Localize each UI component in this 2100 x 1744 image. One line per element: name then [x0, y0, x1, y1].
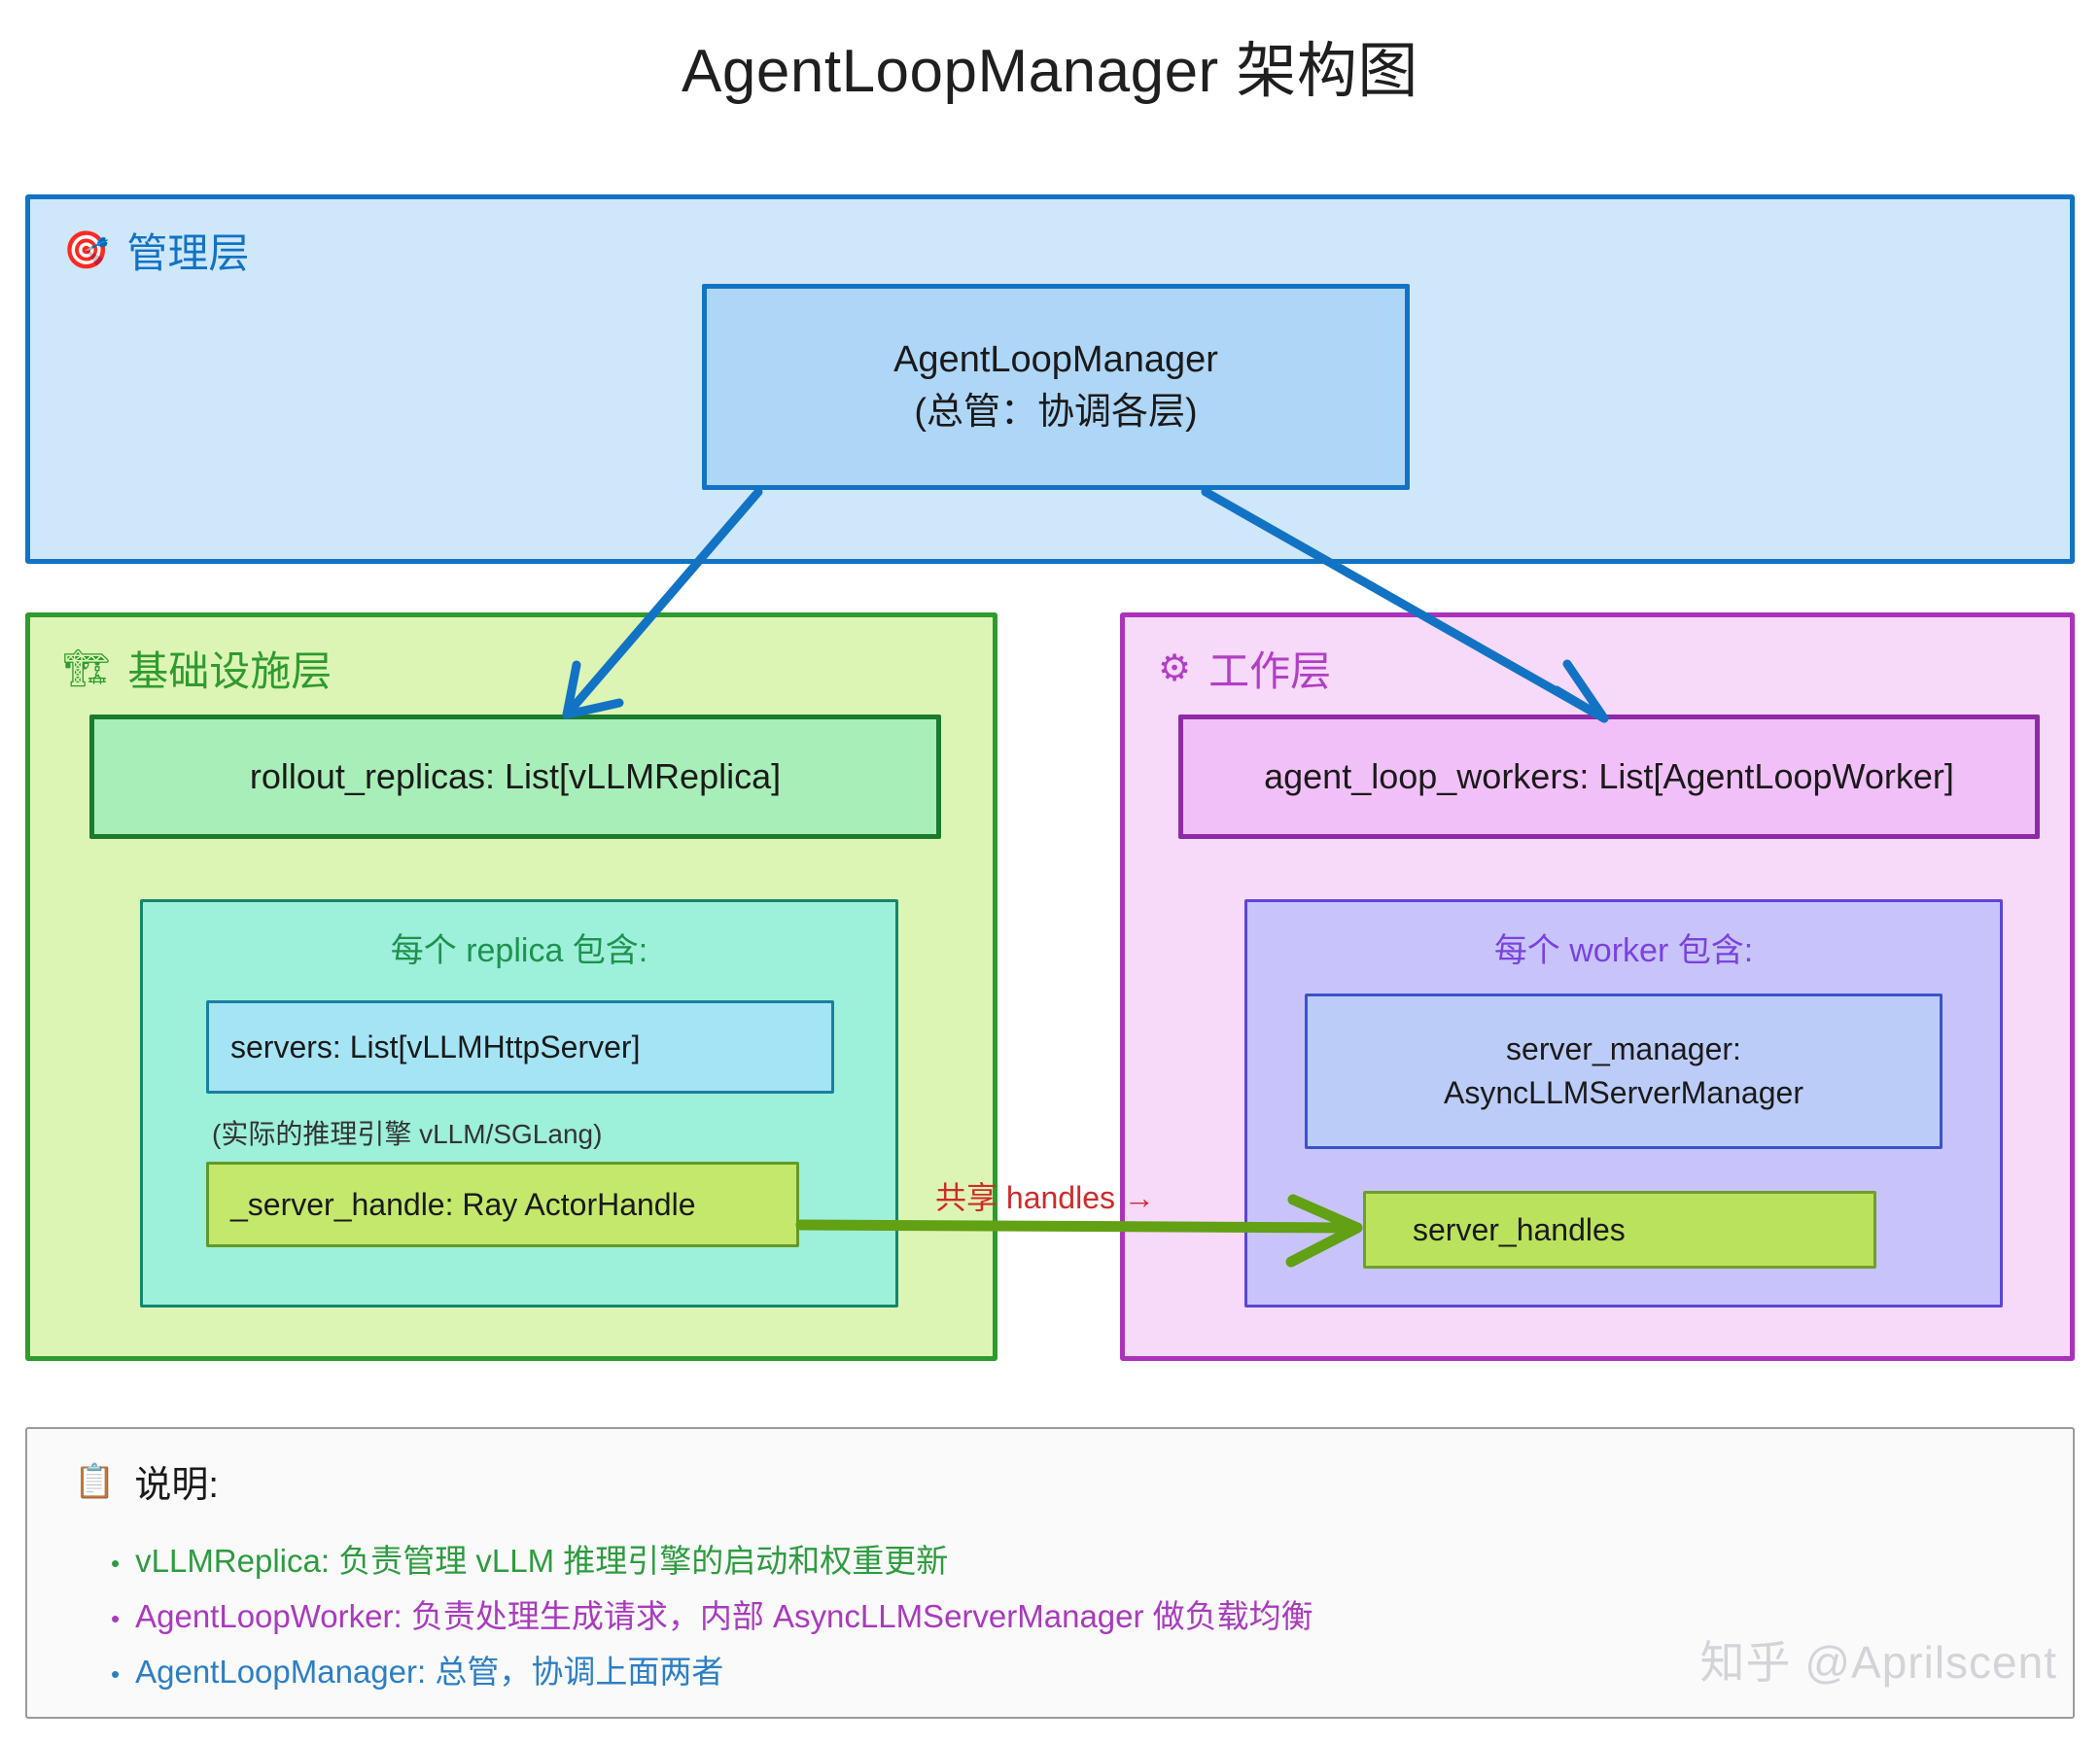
node-agent-loop-manager[interactable]: AgentLoopManager (总管：协调各层): [702, 284, 1410, 490]
legend-bullet-icon: •: [111, 1661, 120, 1687]
construction-crane-icon: 🏗: [63, 650, 110, 687]
legend-item-agentloopworker-text: AgentLoopWorker: 负责处理生成请求，内部 AsyncLLMSer…: [135, 1589, 1313, 1645]
node-server-handle[interactable]: _server_handle: Ray ActorHandle: [206, 1162, 799, 1247]
engine-note-text: (实际的推理引擎 vLLM/SGLang): [212, 1113, 602, 1152]
node-server-manager-line1: server_manager:: [1444, 1028, 1803, 1071]
watermark: 知乎 @Aprilscent: [1700, 1627, 2057, 1692]
node-server-handles[interactable]: server_handles: [1363, 1191, 1876, 1269]
page-title: AgentLoopManager 架构图: [0, 21, 2100, 109]
diagram-canvas: AgentLoopManager 架构图 🎯 管理层 AgentLoopMana…: [0, 0, 2100, 1744]
legend-title: 📋 说明:: [74, 1454, 219, 1508]
legend-title-label: 说明:: [134, 1454, 219, 1508]
management-layer-label: 管理层: [126, 221, 249, 280]
infrastructure-layer-label: 基础设施层: [127, 639, 332, 698]
management-layer-header: 🎯 管理层: [63, 221, 249, 280]
node-servers-list[interactable]: servers: List[vLLMHttpServer]: [206, 1000, 834, 1094]
target-dart-icon: 🎯: [63, 232, 109, 269]
node-server-manager-line2: AsyncLLMServerManager: [1444, 1071, 1803, 1115]
worker-layer-label: 工作层: [1208, 639, 1331, 698]
worker-layer-header: ⚙ 工作层: [1158, 639, 1331, 698]
clipboard-icon: 📋: [74, 1462, 115, 1501]
node-rollout-replicas[interactable]: rollout_replicas: List[vLLMReplica]: [89, 715, 941, 839]
legend-bullet-icon: •: [111, 1606, 120, 1631]
legend-list: • vLLMReplica: 负责管理 vLLM 推理引擎的启动和权重更新 • …: [111, 1534, 1313, 1699]
shared-handles-label: 共享 handles →: [935, 1173, 1155, 1218]
infrastructure-layer-header: 🏗 基础设施层: [63, 639, 332, 698]
legend-bullet-icon: •: [111, 1551, 120, 1576]
node-server-manager[interactable]: server_manager: AsyncLLMServerManager: [1305, 994, 1942, 1149]
legend-item-agentloopmanager-text: AgentLoopManager: 总管，协调上面两者: [135, 1645, 723, 1700]
group-replica-title: 每个 replica 包含:: [143, 924, 895, 971]
legend-item-vllmreplica: • vLLMReplica: 负责管理 vLLM 推理引擎的启动和权重更新: [111, 1534, 1313, 1589]
legend-item-vllmreplica-text: vLLMReplica: 负责管理 vLLM 推理引擎的启动和权重更新: [135, 1534, 948, 1589]
group-worker-title: 每个 worker 包含:: [1247, 924, 2000, 971]
legend-item-agentloopworker: • AgentLoopWorker: 负责处理生成请求，内部 AsyncLLMS…: [111, 1589, 1313, 1645]
node-agent-loop-workers[interactable]: agent_loop_workers: List[AgentLoopWorker…: [1178, 715, 2040, 839]
legend-item-agentloopmanager: • AgentLoopManager: 总管，协调上面两者: [111, 1645, 1313, 1700]
node-agent-loop-manager-line1: AgentLoopManager: [893, 334, 1218, 387]
node-agent-loop-manager-line2: (总管：协调各层): [893, 387, 1218, 439]
gear-icon: ⚙: [1158, 650, 1191, 687]
